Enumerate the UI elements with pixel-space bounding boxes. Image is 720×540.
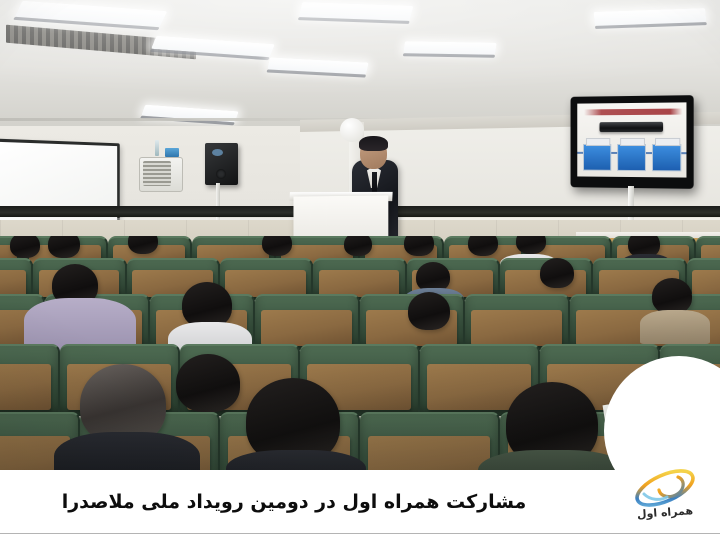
attendee-head — [10, 236, 40, 258]
presenter-tie — [372, 172, 377, 192]
pa-speaker — [205, 143, 238, 185]
slide-server-image — [600, 122, 663, 132]
slide-title-bar — [584, 108, 682, 115]
slide-box — [617, 144, 646, 171]
hamrah-aval-logo[interactable]: همراه اول — [628, 468, 702, 530]
attendee-head — [48, 236, 80, 258]
attendee-head — [468, 236, 498, 256]
seat — [465, 294, 570, 350]
attendee-shoulders — [54, 432, 200, 472]
news-photo — [0, 0, 720, 472]
attendee-head — [404, 236, 434, 256]
presentation-screen — [571, 95, 694, 189]
seat-desk — [319, 270, 399, 296]
seat-desk — [261, 310, 352, 346]
attendee-head — [408, 292, 450, 330]
caption-text: مشارکت همراه اول در دومین رویداد ملی ملا… — [0, 470, 600, 533]
attendee-shoulders — [226, 450, 366, 472]
attendee-shoulders — [640, 310, 710, 344]
seat-desk — [692, 270, 720, 296]
screen-surface — [577, 102, 686, 177]
seat — [255, 294, 360, 350]
seat-desk — [0, 364, 51, 410]
blue-box-object — [165, 148, 179, 157]
caption-bar: مشارکت همراه اول در دومین رویداد ملی ملا… — [0, 470, 720, 533]
attendee-head — [176, 354, 240, 412]
slide-box — [652, 144, 682, 172]
presenter-hair — [359, 136, 388, 151]
seat — [360, 412, 500, 472]
screenshot-root: مشارکت همراه اول در دومین رویداد ملی ملا… — [0, 0, 720, 540]
seat-desk — [368, 436, 489, 472]
attendee-head — [652, 278, 692, 314]
ac-grille — [143, 161, 171, 186]
attendee-head — [128, 236, 158, 254]
attendee-head — [516, 236, 546, 254]
seat-desk — [471, 310, 562, 346]
seat-desk — [225, 270, 305, 296]
water-bottle — [155, 140, 159, 156]
seat-desk — [0, 270, 26, 296]
slide-box — [583, 144, 612, 171]
seat — [0, 344, 60, 416]
attendee-head — [540, 258, 574, 288]
attendee-head — [344, 236, 372, 256]
bottom-divider — [0, 533, 720, 540]
attendee-head — [262, 236, 292, 256]
